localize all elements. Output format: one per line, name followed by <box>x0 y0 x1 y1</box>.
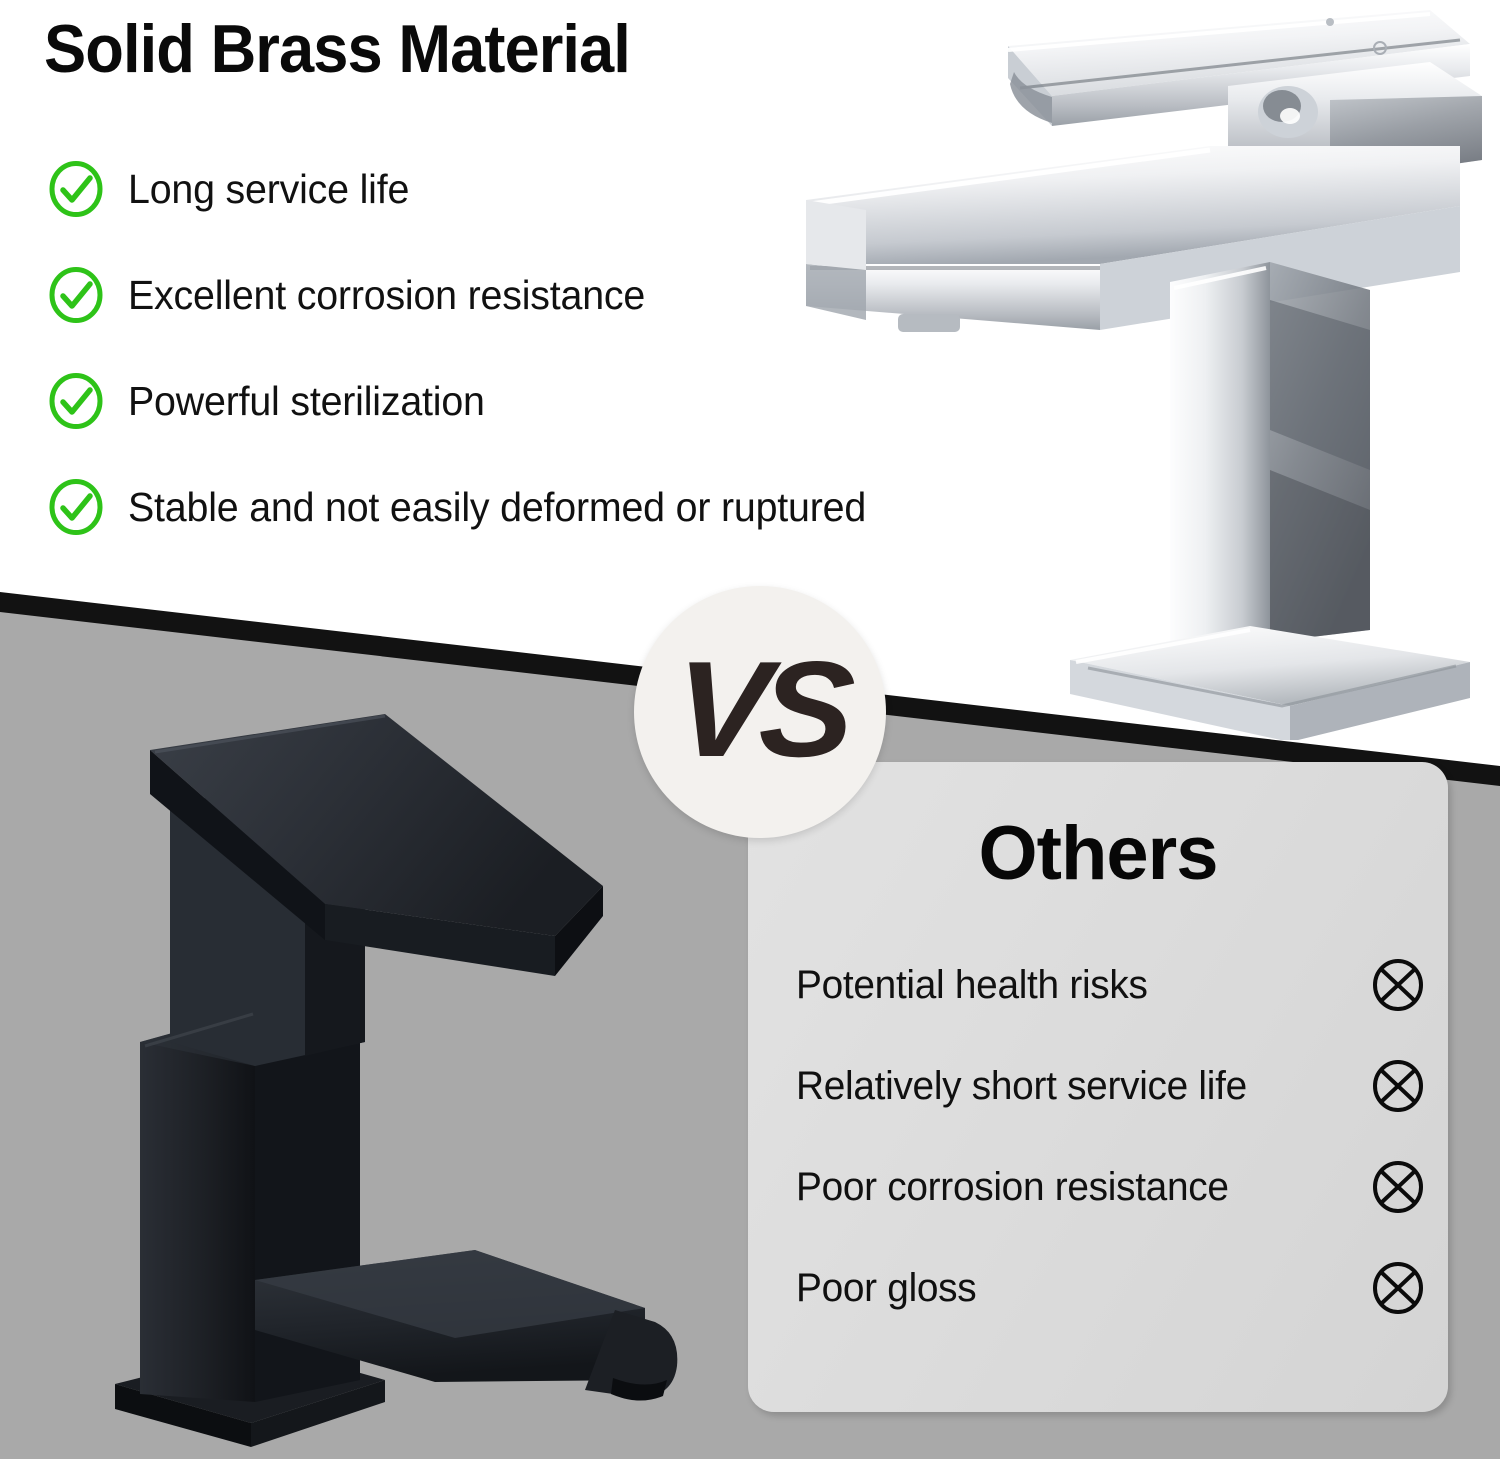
list-item: Potential health risks <box>796 952 1426 1018</box>
chrome-handle-knob-glint <box>1280 108 1300 124</box>
chrome-column-front <box>1170 262 1270 656</box>
others-list: Potential health risks Relatively short … <box>796 952 1426 1356</box>
other-item-label: Relatively short service life <box>796 1064 1247 1109</box>
others-panel: Others Potential health risks Relatively… <box>748 762 1448 1412</box>
vs-label: VS <box>671 641 849 783</box>
circle-x-icon <box>1370 1058 1426 1114</box>
circle-x-icon <box>1370 1260 1426 1316</box>
chrome-lever-screw <box>1326 18 1334 26</box>
green-check-circle-icon <box>48 267 104 323</box>
other-item-label: Poor gloss <box>796 1266 976 1311</box>
vs-badge: VS <box>634 586 886 838</box>
chrome-faucet-image <box>770 0 1500 740</box>
black-column-front <box>140 1010 255 1402</box>
page-title: Solid Brass Material <box>44 10 630 88</box>
feature-item-label: Stable and not easily deformed or ruptur… <box>128 484 866 531</box>
chrome-spout-nose-top <box>806 200 866 270</box>
feature-item-label: Powerful sterilization <box>128 378 485 425</box>
black-faucet-image <box>55 690 715 1459</box>
others-title: Others <box>748 810 1448 897</box>
other-item-label: Poor corrosion resistance <box>796 1165 1229 1210</box>
other-item-label: Potential health risks <box>796 963 1148 1008</box>
circle-x-icon <box>1370 1159 1426 1215</box>
green-check-circle-icon <box>48 161 104 217</box>
infographic-page: Others Potential health risks Relatively… <box>0 0 1500 1459</box>
green-check-circle-icon <box>48 479 104 535</box>
chrome-spout-left-face <box>806 264 866 320</box>
feature-item-label: Excellent corrosion resistance <box>128 272 645 319</box>
green-check-circle-icon <box>48 373 104 429</box>
feature-item-label: Long service life <box>128 166 409 213</box>
list-item: Poor corrosion resistance <box>796 1154 1426 1220</box>
chrome-aerator <box>898 314 960 332</box>
list-item: Relatively short service life <box>796 1053 1426 1119</box>
circle-x-icon <box>1370 957 1426 1013</box>
list-item: Poor gloss <box>796 1255 1426 1321</box>
